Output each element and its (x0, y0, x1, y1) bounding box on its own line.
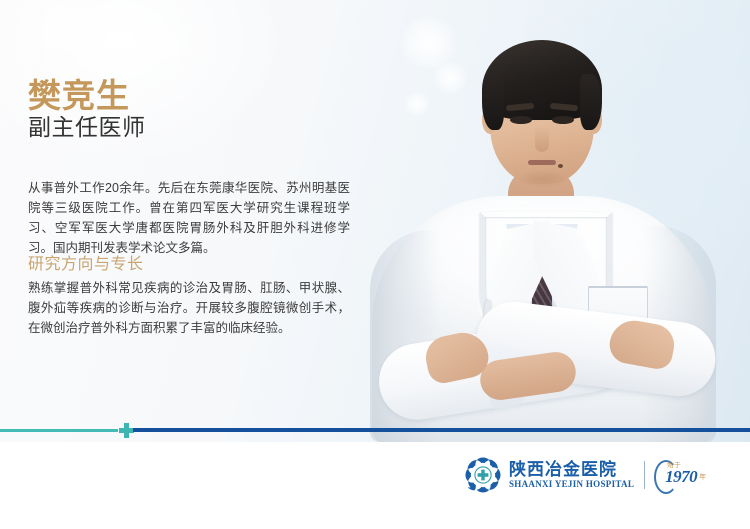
portrait-mole (558, 164, 563, 168)
anniversary-badge: 始于 1970 年 (654, 458, 710, 492)
divider-line-blue (133, 428, 750, 432)
divider-line-teal (0, 429, 118, 432)
doctor-name: 樊竞生 (28, 79, 130, 112)
anniversary-year-unit: 年 (699, 472, 706, 482)
portrait-chin-shadow (516, 170, 568, 188)
doctor-biography: 从事普外工作20余年。先后在东莞康华医院、苏州明基医院等三级医院工作。曾在第四军… (28, 178, 350, 258)
anniversary-year: 1970 (665, 467, 697, 486)
portrait-hair-side-left (482, 74, 504, 130)
section-heading-specialty: 研究方向与专长 (28, 255, 144, 274)
portrait-hair-side-right (580, 74, 602, 130)
portrait-mouth (528, 160, 556, 165)
portrait-eye-right (552, 116, 574, 124)
portrait-nose (535, 126, 549, 152)
doctor-specialty-description: 熟练掌握普外科常见疾病的诊治及胃肠、肛肠、甲状腺、腹外疝等疾病的诊断与治疗。开展… (28, 278, 350, 338)
hospital-name-english: SHAANXI YEJIN HOSPITAL (509, 479, 634, 490)
hospital-name-block: 陕西冶金医院 SHAANXI YEJIN HOSPITAL (509, 460, 634, 490)
logo-separator (644, 461, 645, 489)
medical-cross-icon (119, 423, 134, 438)
hospital-emblem-icon (464, 456, 502, 494)
doctor-profile-card: 樊竞生 副主任医师 从事普外工作20余年。先后在东莞康华医院、苏州明基医院等三级… (0, 0, 750, 529)
portrait-eye-left (510, 116, 532, 124)
hospital-logo: 陕西冶金医院 SHAANXI YEJIN HOSPITAL 始于 1970 年 (464, 455, 710, 495)
doctor-portrait-photo (330, 0, 750, 442)
hospital-name-chinese: 陕西冶金医院 (509, 460, 634, 479)
doctor-title: 副主任医师 (28, 116, 146, 139)
